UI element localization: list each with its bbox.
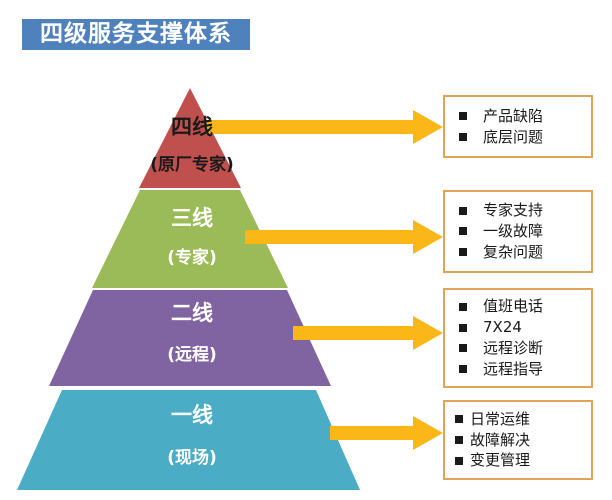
pyramid-tier-1-qualifier: (现场) [144, 450, 240, 467]
callout-box-tier-2: 值班电话 7X24 远程诊断 远程指导 [443, 288, 593, 388]
callout-item-label: 产品缺陷 [483, 108, 543, 125]
callout-item-label: 专家支持 [483, 202, 543, 219]
callout-item-label: 变更管理 [470, 452, 530, 469]
callout-item-label: 7X24 [483, 319, 522, 336]
callout-item: 日常运维 [455, 411, 591, 428]
callout-item-label: 值班电话 [483, 298, 543, 315]
arrow-tier-1 [330, 416, 443, 450]
callout-item: 专家支持 [459, 202, 591, 219]
callout-item-label: 故障解决 [470, 432, 530, 449]
bullet-square-icon [455, 436, 463, 444]
diagram-title-text: 四级服务支撑体系 [40, 23, 232, 46]
callout-item: 产品缺陷 [459, 108, 591, 125]
callout-box-tier-1: 日常运维 故障解决 变更管理 [443, 400, 593, 480]
callout-item: 7X24 [459, 319, 591, 336]
callout-item: 故障解决 [455, 432, 591, 449]
pyramid-tier-2-shape [49, 290, 331, 386]
bullet-square-icon [459, 344, 467, 352]
diagram-title-banner: 四级服务支撑体系 [20, 17, 252, 52]
callout-item: 值班电话 [459, 298, 591, 315]
bullet-square-icon [459, 324, 467, 332]
bullet-square-icon [459, 112, 467, 120]
pyramid-tier-4-shape [139, 88, 241, 188]
callout-item-label: 复杂问题 [483, 244, 543, 261]
callout-item-label: 底层问题 [483, 129, 543, 146]
bullet-square-icon [459, 133, 467, 141]
bullet-square-icon [455, 457, 463, 465]
callout-item-label: 日常运维 [470, 411, 530, 428]
callout-item-label: 远程指导 [483, 361, 543, 378]
bullet-square-icon [459, 207, 467, 215]
pyramid-tier-3-level: 三线 [148, 208, 236, 229]
callout-item-label: 远程诊断 [483, 340, 543, 357]
bullet-square-icon [459, 365, 467, 373]
callout-item: 变更管理 [455, 452, 591, 469]
bullet-square-icon [455, 415, 463, 423]
callout-item: 底层问题 [459, 129, 591, 146]
pyramid-tier-2-level: 二线 [148, 303, 236, 324]
arrow-tier-3 [245, 220, 443, 254]
arrow-tier-2 [293, 316, 443, 350]
pyramid-tier-4-qualifier: (原厂专家) [128, 157, 256, 174]
pyramid-tier-1-shape [17, 390, 360, 490]
bullet-square-icon [459, 227, 467, 235]
callout-item: 复杂问题 [459, 244, 591, 261]
pyramid-tier-4-level: 四线 [150, 117, 234, 138]
callout-item: 远程诊断 [459, 340, 591, 357]
pyramid-tier-1-level: 一线 [148, 405, 236, 426]
pyramid-tier-3-shape [92, 190, 288, 288]
callout-item-label: 一级故障 [483, 223, 543, 240]
callout-box-tier-4: 产品缺陷 底层问题 [443, 95, 593, 158]
callout-item: 一级故障 [459, 223, 591, 240]
bullet-square-icon [459, 248, 467, 256]
pyramid-tier-2-qualifier: (远程) [144, 347, 240, 364]
bullet-square-icon [459, 303, 467, 311]
diagram-canvas: 四级服务支撑体系 四线 (原厂专家) 三线 (专家) 二线 (远程) 一线 (现… [0, 0, 612, 500]
pyramid-tier-3-qualifier: (专家) [148, 250, 236, 267]
callout-item: 远程指导 [459, 361, 591, 378]
arrow-tier-4 [206, 110, 443, 144]
callout-box-tier-3: 专家支持 一级故障 复杂问题 [443, 190, 593, 273]
